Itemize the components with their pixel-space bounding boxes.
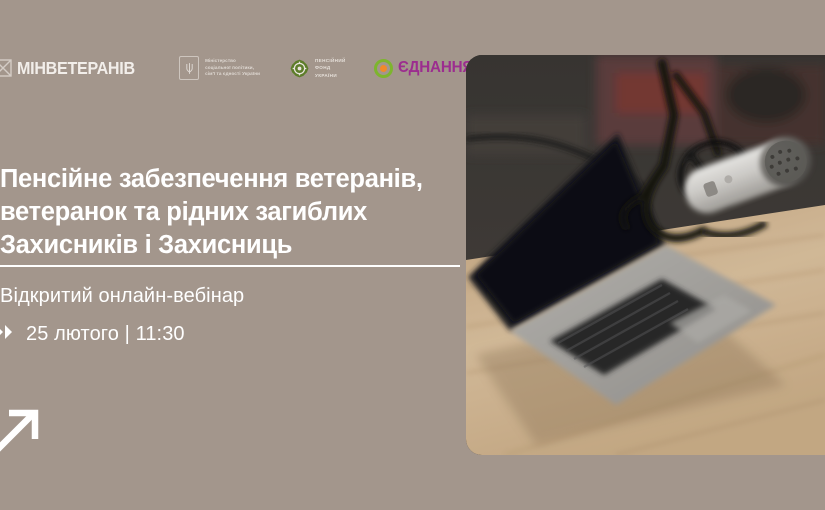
- webinar-photo: [466, 55, 825, 455]
- minsoc-line-1: Міністерство: [205, 58, 236, 63]
- logo-minveteraniv-label: МІНВЕТЕРАНІВ: [17, 58, 135, 79]
- logo-ministry-social-policy: Міністерство соціальної політики, сім'ї …: [179, 48, 260, 88]
- double-chevron-right-icon: [0, 324, 17, 345]
- event-datetime-row: 25 лютого | 11:30: [0, 323, 185, 346]
- event-datetime-label: 25 лютого | 11:30: [26, 323, 185, 346]
- ministry-of-veterans-emblem-icon: [0, 59, 12, 77]
- headline-line-3: Захисників і Захисниць: [0, 229, 452, 262]
- minsoc-line-3: сім'ї та єдності України: [205, 71, 260, 76]
- ukrainian-trident-emblem-icon: [179, 56, 199, 80]
- yednannia-circle-icon: [374, 59, 393, 78]
- headline-line-2: ветеранок та рідних загиблих: [0, 196, 452, 229]
- pfu-line-1: ПЕНСІЙНИЙ: [315, 58, 346, 63]
- minsoc-line-2: соціальної політики,: [205, 65, 254, 70]
- logo-pension-fund-label: ПЕНСІЙНИЙ ФОНД УКРАЇНИ: [315, 57, 346, 79]
- yednannia-inner-dot: [380, 65, 387, 72]
- pension-fund-emblem-icon: [290, 59, 309, 78]
- podcast-laptop-and-microphone-illustration: [466, 55, 825, 455]
- event-format-label: Відкритий онлайн-вебінар: [0, 285, 244, 308]
- logo-yednannia-label: ЄДНАННЯ: [398, 59, 473, 77]
- partner-logo-strip: МІНВЕТЕРАНІВ Міністерство соціальної пол…: [0, 48, 460, 88]
- webinar-announcement-banner: МІНВЕТЕРАНІВ Міністерство соціальної пол…: [0, 0, 825, 510]
- logo-yednannia: ЄДНАННЯ: [374, 48, 477, 88]
- logo-pension-fund: ПЕНСІЙНИЙ ФОНД УКРАЇНИ: [290, 48, 346, 88]
- page-title: Пенсійне забезпечення ветеранів, ветеран…: [0, 163, 452, 262]
- logo-ministry-social-policy-label: Міністерство соціальної політики, сім'ї …: [205, 58, 260, 79]
- arrow-up-right-icon: [0, 403, 44, 459]
- pfu-line-3: УКРАЇНИ: [315, 73, 337, 78]
- headline-line-1: Пенсійне забезпечення ветеранів,: [0, 163, 452, 196]
- logo-minveteraniv: МІНВЕТЕРАНІВ: [0, 48, 145, 88]
- section-divider: [0, 265, 460, 267]
- pfu-line-2: ФОНД: [315, 65, 330, 70]
